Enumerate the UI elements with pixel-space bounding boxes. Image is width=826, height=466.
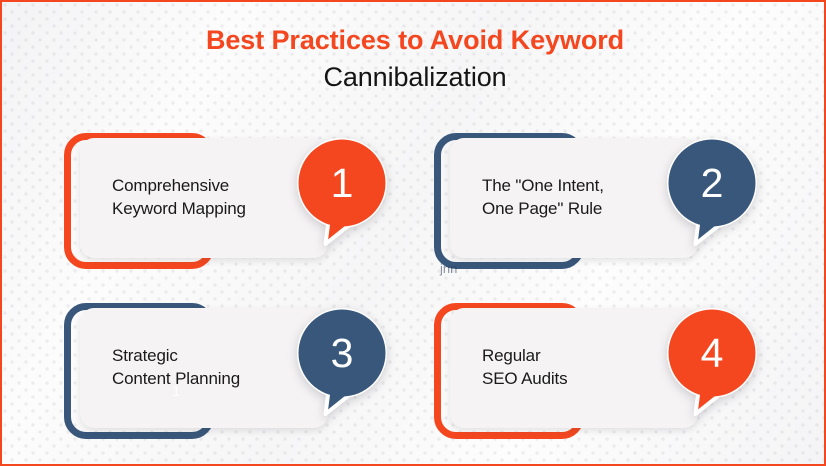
best-practices-card-grid: Comprehensive Keyword Mapping 1 The "One… bbox=[62, 129, 772, 449]
practice-card-3[interactable]: Strategic Content Planning 1 3 bbox=[62, 299, 402, 449]
infographic-canvas: Best Practices to Avoid Keyword Cannibal… bbox=[0, 0, 826, 466]
practice-card-1[interactable]: Comprehensive Keyword Mapping 1 bbox=[62, 129, 402, 279]
number-badge-value-1: 1 bbox=[296, 137, 388, 229]
title-line-2: Cannibalization bbox=[2, 58, 826, 96]
title-line-1: Best Practices to Avoid Keyword bbox=[2, 22, 826, 58]
number-badge-value-2: 2 bbox=[666, 137, 758, 229]
card-panel-1: Comprehensive Keyword Mapping bbox=[80, 138, 328, 258]
card-label-1: Comprehensive Keyword Mapping bbox=[112, 174, 246, 220]
number-badge-4: 4 bbox=[666, 307, 758, 419]
card-panel-2: The "One Intent, One Page" Rule bbox=[450, 138, 698, 258]
number-badge-value-3: 3 bbox=[296, 307, 388, 399]
practice-card-4[interactable]: Regular SEO Audits 4 bbox=[432, 299, 772, 449]
number-badge-2: 2 bbox=[666, 137, 758, 249]
practice-card-2[interactable]: The "One Intent, One Page" Rule jnn 2 bbox=[432, 129, 772, 279]
card-label-3: Strategic Content Planning bbox=[112, 344, 240, 390]
number-badge-1: 1 bbox=[296, 137, 388, 249]
number-badge-value-4: 4 bbox=[666, 307, 758, 399]
number-badge-3: 3 bbox=[296, 307, 388, 419]
card-panel-4: Regular SEO Audits bbox=[450, 308, 698, 428]
card-label-4: Regular SEO Audits bbox=[482, 344, 567, 390]
card-label-2: The "One Intent, One Page" Rule bbox=[482, 174, 604, 220]
card-panel-3: Strategic Content Planning 1 bbox=[80, 308, 328, 428]
page-title: Best Practices to Avoid Keyword Cannibal… bbox=[2, 22, 826, 96]
